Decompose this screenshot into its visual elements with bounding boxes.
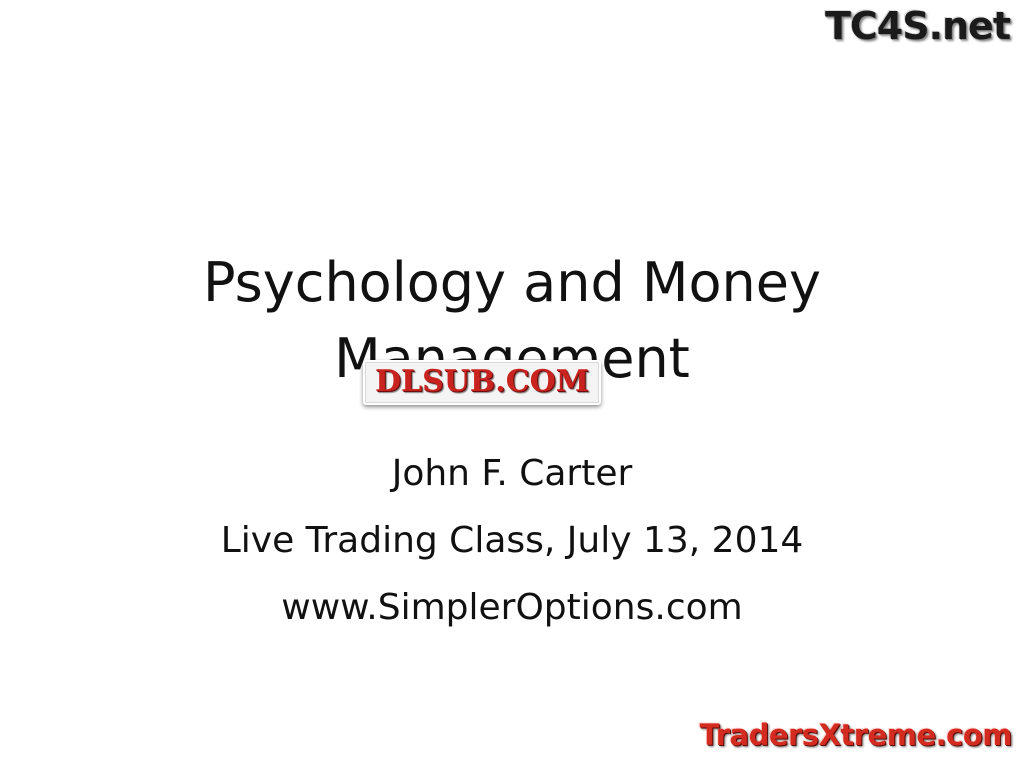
tc4s-watermark: TC4S.net	[825, 2, 1010, 50]
dlsub-watermark: DLSUB.COM	[363, 360, 601, 405]
subtitle-author: John F. Carter	[0, 440, 1024, 507]
subtitle-block: John F. Carter Live Trading Class, July …	[0, 440, 1024, 641]
subtitle-website: www.SimplerOptions.com	[0, 574, 1024, 641]
subtitle-class-date: Live Trading Class, July 13, 2014	[0, 507, 1024, 574]
tradersxtreme-watermark: TradersXtreme.com	[700, 718, 1012, 752]
presentation-slide: TC4S.net Psychology and Money Management…	[0, 0, 1024, 768]
